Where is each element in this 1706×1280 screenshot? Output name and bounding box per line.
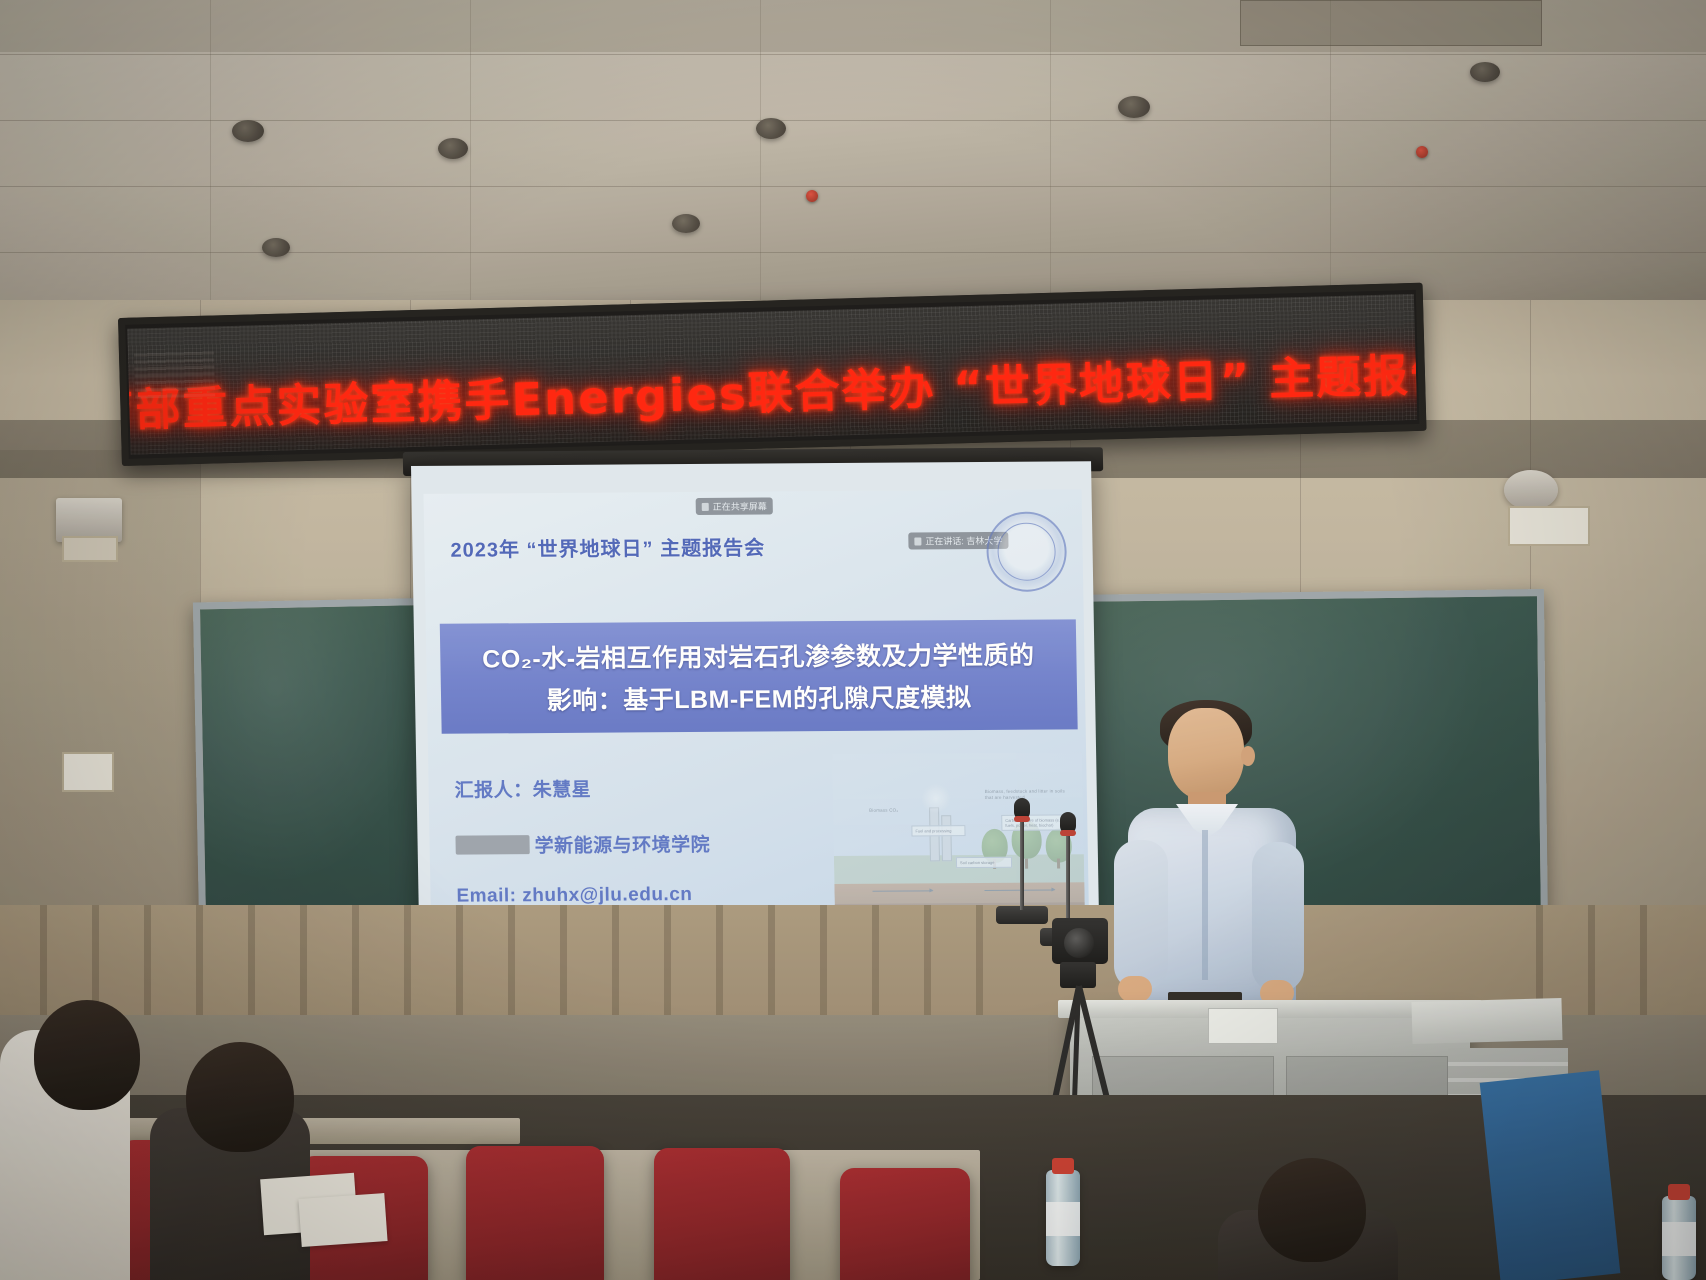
screen-share-badge: 正在共享屏幕 — [696, 497, 773, 515]
slide-title-line-1: CO₂-水-岩相互作用对岩石孔渗参数及力学性质的 — [482, 636, 1035, 676]
slide-affiliation: 学新能源与环境学院 — [534, 830, 710, 858]
tripod-head — [1060, 962, 1096, 988]
wall-notice-left — [62, 752, 114, 792]
presenter-arm-right — [1252, 842, 1304, 992]
presenter-head — [1168, 708, 1244, 800]
slide-header: 2023年 “世界地球日” 主题报告会 — [450, 532, 765, 563]
water-bottle — [1046, 1170, 1080, 1266]
fire-sprinkler — [806, 190, 818, 202]
microphone-indicator-right — [1060, 830, 1076, 836]
ceiling — [0, 0, 1706, 330]
ceiling-downlight — [756, 118, 786, 139]
ceiling-downlight — [672, 214, 700, 233]
presenter-person — [1110, 700, 1310, 1030]
audience-member-head — [34, 1000, 140, 1110]
projection-screen: 正在共享屏幕 正在讲话: 吉林大学 2023年 “世界地球日” 主题报告会 CO… — [411, 461, 1099, 941]
share-indicator-icon — [702, 502, 709, 510]
presenter-shirt-placket — [1202, 830, 1208, 980]
ccs-label-biomass: Biomass CO₂ — [869, 808, 898, 814]
presentation-slide: 正在共享屏幕 正在讲话: 吉林大学 2023年 “世界地球日” 主题报告会 CO… — [423, 489, 1089, 927]
bottle-cap — [1668, 1184, 1690, 1200]
ceiling-downlight — [438, 138, 468, 159]
side-table — [1411, 998, 1562, 1044]
ccs-carbon-capture-diagram: Biomass CO₂ Biomass, feedstock and litte… — [832, 752, 1085, 922]
ceiling-downlight — [232, 120, 264, 142]
wall-light-right — [1504, 470, 1558, 510]
audience-notes-paper — [298, 1193, 387, 1247]
wall-panel-left-small — [62, 536, 118, 562]
auditorium-seat — [654, 1148, 790, 1280]
auditorium-seat — [840, 1168, 970, 1280]
redaction-block — [455, 835, 529, 855]
water-bottle — [1662, 1196, 1696, 1280]
screen-share-badge-label: 正在共享屏幕 — [713, 500, 767, 513]
slide-presenter: 汇报人：朱慧星 — [454, 775, 591, 803]
microphone-stem-left — [1020, 816, 1024, 910]
microphone-indicator-left — [1014, 816, 1030, 822]
slide-affiliation-row: 学新能源与环境学院 — [455, 830, 710, 859]
slide-title-band: CO₂-水-岩相互作用对岩石孔渗参数及力学性质的 影响：基于LBM-FEM的孔隙… — [440, 619, 1078, 733]
led-pixel-noise — [134, 348, 215, 398]
presenter-hand-left — [1118, 976, 1152, 1002]
ccs-box-fuel: Fuel and processing — [911, 825, 965, 837]
projection-surface: 正在共享屏幕 正在讲话: 吉林大学 2023年 “世界地球日” 主题报告会 CO… — [411, 461, 1099, 941]
auditorium-seat — [466, 1146, 604, 1280]
camera-lens — [1064, 928, 1094, 958]
ceiling-downlight — [262, 238, 290, 257]
presenter-arm-left — [1114, 840, 1168, 990]
microphone-icon — [914, 537, 921, 545]
wall-notice-right — [1508, 506, 1590, 546]
audience-member-head — [1258, 1158, 1366, 1262]
university-seal-logo — [986, 511, 1067, 592]
ceiling-downlight — [1118, 96, 1150, 118]
lecture-hall-scene: 教育部重点实验室携手Energies联合举办 “世界地球日” 主题报告会 正在共… — [0, 0, 1706, 1280]
presenter-ear — [1241, 746, 1255, 766]
microphone-stem-right — [1066, 830, 1070, 932]
blue-bag-object — [1480, 1070, 1621, 1280]
ccs-box-soil-storage: Soil carbon storage — [956, 857, 1012, 869]
slide-title-line-2: 影响：基于LBM-FEM的孔隙尺度模拟 — [546, 678, 971, 717]
podium-nameplate — [1208, 1008, 1278, 1044]
bottle-cap — [1052, 1158, 1074, 1174]
ceiling-downlight — [1470, 62, 1500, 82]
audience-member-head — [186, 1042, 294, 1152]
fire-sprinkler — [1416, 146, 1428, 158]
